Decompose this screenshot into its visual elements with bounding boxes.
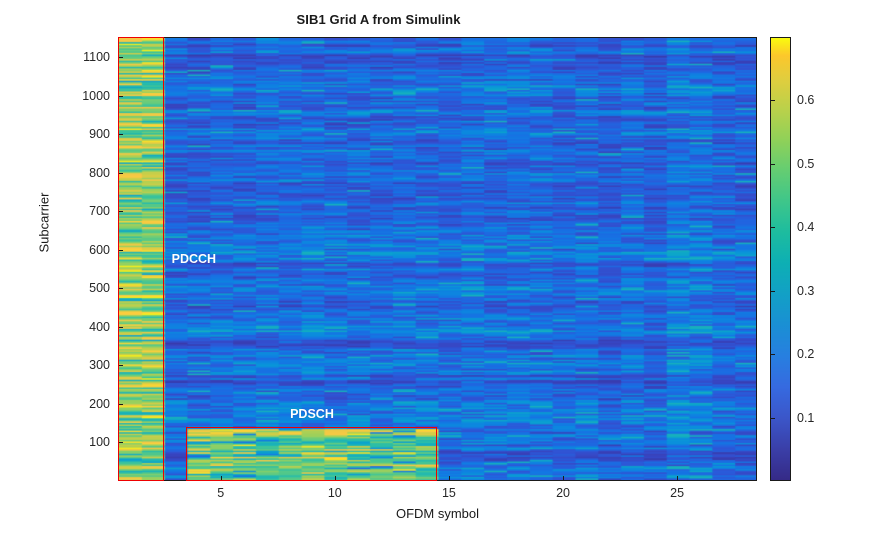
x-tick-label-15: 15 <box>429 486 469 500</box>
y-axis-label: Subcarrier <box>37 153 52 293</box>
region-label-pdcch: PDCCH <box>172 252 216 266</box>
y-tick-label-600: 600 <box>62 243 110 257</box>
y-tick-label-700: 700 <box>62 204 110 218</box>
colorbar-tick-label-0.3: 0.3 <box>797 284 847 298</box>
x-axis-label: OFDM symbol <box>118 506 757 521</box>
y-tick-mark <box>118 365 123 366</box>
x-tick-label-20: 20 <box>543 486 583 500</box>
colorbar-tick-mark <box>770 227 775 228</box>
colorbar-tick-mark <box>770 354 775 355</box>
colorbar-tick-label-0.5: 0.5 <box>797 157 847 171</box>
x-tick-mark <box>677 476 678 481</box>
x-tick-mark <box>335 476 336 481</box>
y-tick-label-1000: 1000 <box>62 89 110 103</box>
y-tick-label-900: 900 <box>62 127 110 141</box>
y-tick-mark <box>118 211 123 212</box>
y-tick-mark <box>118 327 123 328</box>
colorbar-tick-mark <box>770 291 775 292</box>
chart-title: SIB1 Grid A from Simulink <box>0 12 757 27</box>
colorbar-tick-label-0.6: 0.6 <box>797 93 847 107</box>
y-tick-mark <box>118 57 123 58</box>
y-tick-label-500: 500 <box>62 281 110 295</box>
y-tick-mark <box>118 288 123 289</box>
y-tick-label-100: 100 <box>62 435 110 449</box>
y-tick-label-200: 200 <box>62 397 110 411</box>
colorbar-tick-mark <box>770 164 775 165</box>
y-tick-mark <box>118 96 123 97</box>
colorbar-tick-mark <box>770 100 775 101</box>
x-tick-mark <box>221 476 222 481</box>
y-tick-mark <box>118 442 123 443</box>
x-tick-label-10: 10 <box>315 486 355 500</box>
y-tick-label-800: 800 <box>62 166 110 180</box>
colorbar-tick-label-0.4: 0.4 <box>797 220 847 234</box>
y-tick-mark <box>118 134 123 135</box>
x-tick-label-5: 5 <box>201 486 241 500</box>
y-tick-label-1100: 1100 <box>62 50 110 64</box>
colorbar-tick-label-0.1: 0.1 <box>797 411 847 425</box>
y-tick-mark <box>118 250 123 251</box>
colorbar-tick-mark <box>770 418 775 419</box>
x-tick-mark <box>449 476 450 481</box>
region-label-pdsch: PDSCH <box>290 407 334 421</box>
colorbar-tick-label-0.2: 0.2 <box>797 347 847 361</box>
y-tick-label-400: 400 <box>62 320 110 334</box>
x-tick-label-25: 25 <box>657 486 697 500</box>
y-tick-label-300: 300 <box>62 358 110 372</box>
x-tick-mark <box>563 476 564 481</box>
colorbar[interactable] <box>770 37 791 481</box>
y-tick-mark <box>118 404 123 405</box>
y-tick-mark <box>118 173 123 174</box>
y-axis-tick-labels: 10020030040050060070080090010001100 <box>58 0 110 540</box>
figure-canvas: SIB1 Grid A from Simulink 10020030040050… <box>0 0 895 540</box>
